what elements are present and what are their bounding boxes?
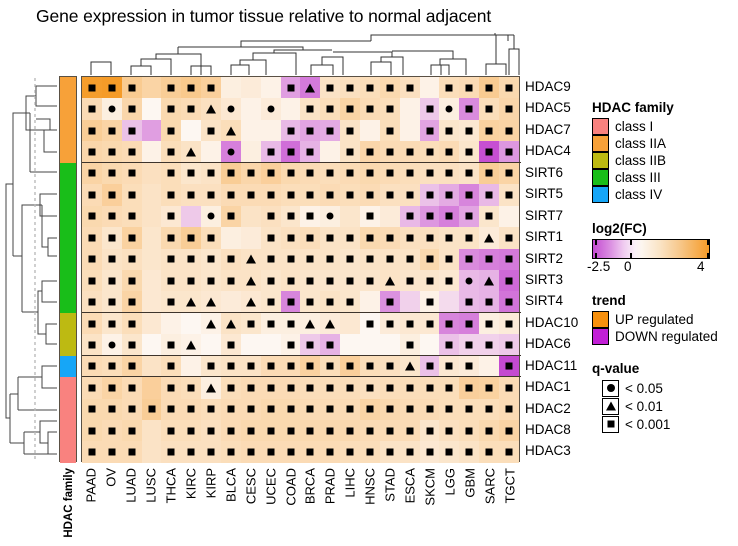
heatmap-cell[interactable] (380, 441, 400, 462)
heatmap-cell[interactable] (122, 377, 142, 398)
heatmap-cell[interactable] (161, 184, 181, 205)
heatmap-cell[interactable] (320, 98, 340, 119)
heatmap-cell[interactable] (142, 227, 162, 248)
heatmap-cell[interactable] (122, 313, 142, 334)
heatmap-cell[interactable] (221, 291, 241, 312)
heatmap-cell[interactable] (82, 356, 102, 377)
heatmap-cell[interactable] (281, 399, 301, 420)
heatmap-cell[interactable] (102, 141, 122, 162)
heatmap-cell[interactable] (320, 291, 340, 312)
heatmap-cell[interactable] (340, 249, 360, 270)
heatmap-cell[interactable] (221, 270, 241, 291)
heatmap-cell[interactable] (499, 313, 519, 334)
heatmap-cell[interactable] (241, 184, 261, 205)
heatmap-cell[interactable] (102, 270, 122, 291)
heatmap-cell[interactable] (142, 77, 162, 98)
heatmap-cell[interactable] (201, 334, 221, 355)
heatmap-cell[interactable] (439, 441, 459, 462)
heatmap-cell[interactable] (439, 98, 459, 119)
heatmap-cell[interactable] (142, 249, 162, 270)
heatmap-cell[interactable] (400, 227, 420, 248)
heatmap-cell[interactable] (142, 141, 162, 162)
heatmap-cell[interactable] (300, 441, 320, 462)
heatmap-cell[interactable] (181, 399, 201, 420)
heatmap-cell[interactable] (459, 334, 479, 355)
heatmap-cell[interactable] (300, 334, 320, 355)
heatmap-cell[interactable] (499, 399, 519, 420)
heatmap-cell[interactable] (320, 313, 340, 334)
heatmap-cell[interactable] (82, 98, 102, 119)
heatmap-cell[interactable] (360, 184, 380, 205)
heatmap-cell[interactable] (221, 98, 241, 119)
heatmap-cell[interactable] (400, 420, 420, 441)
heatmap-cell[interactable] (102, 334, 122, 355)
heatmap-cell[interactable] (340, 420, 360, 441)
heatmap-cell[interactable] (360, 334, 380, 355)
heatmap-cell[interactable] (281, 441, 301, 462)
heatmap-cell[interactable] (221, 356, 241, 377)
heatmap-cell[interactable] (439, 206, 459, 227)
heatmap-cell[interactable] (181, 227, 201, 248)
heatmap-cell[interactable] (400, 377, 420, 398)
heatmap-cell[interactable] (340, 270, 360, 291)
heatmap-cell[interactable] (122, 120, 142, 141)
heatmap-cell[interactable] (82, 291, 102, 312)
heatmap-cell[interactable] (459, 377, 479, 398)
heatmap-cell[interactable] (201, 227, 221, 248)
heatmap-cell[interactable] (281, 206, 301, 227)
heatmap-cell[interactable] (161, 249, 181, 270)
heatmap-cell[interactable] (281, 77, 301, 98)
heatmap-cell[interactable] (261, 77, 281, 98)
heatmap-cell[interactable] (300, 227, 320, 248)
heatmap-cell[interactable] (340, 291, 360, 312)
heatmap-cell[interactable] (241, 163, 261, 184)
heatmap-cell[interactable] (320, 77, 340, 98)
heatmap-cell[interactable] (459, 399, 479, 420)
heatmap-cell[interactable] (400, 163, 420, 184)
heatmap-cell[interactable] (420, 356, 440, 377)
heatmap-cell[interactable] (360, 227, 380, 248)
heatmap-cell[interactable] (281, 184, 301, 205)
heatmap-cell[interactable] (400, 441, 420, 462)
heatmap-cell[interactable] (181, 184, 201, 205)
heatmap-cell[interactable] (340, 227, 360, 248)
heatmap-cell[interactable] (499, 356, 519, 377)
heatmap-cell[interactable] (459, 163, 479, 184)
heatmap-cell[interactable] (261, 334, 281, 355)
heatmap-cell[interactable] (320, 163, 340, 184)
heatmap-cell[interactable] (122, 98, 142, 119)
heatmap-cell[interactable] (340, 184, 360, 205)
heatmap-cell[interactable] (281, 227, 301, 248)
heatmap-cell[interactable] (261, 98, 281, 119)
heatmap-cell[interactable] (142, 120, 162, 141)
heatmap-cell[interactable] (142, 356, 162, 377)
heatmap-cell[interactable] (241, 377, 261, 398)
heatmap-cell[interactable] (439, 377, 459, 398)
heatmap-cell[interactable] (420, 206, 440, 227)
heatmap-cell[interactable] (102, 206, 122, 227)
heatmap-cell[interactable] (102, 120, 122, 141)
heatmap-cell[interactable] (241, 420, 261, 441)
heatmap-cell[interactable] (459, 313, 479, 334)
heatmap-cell[interactable] (340, 441, 360, 462)
heatmap-cell[interactable] (499, 227, 519, 248)
heatmap-cell[interactable] (221, 120, 241, 141)
heatmap-cell[interactable] (479, 441, 499, 462)
heatmap-cell[interactable] (181, 77, 201, 98)
heatmap-cell[interactable] (181, 141, 201, 162)
heatmap-cell[interactable] (261, 356, 281, 377)
heatmap-cell[interactable] (400, 334, 420, 355)
heatmap-cell[interactable] (241, 441, 261, 462)
heatmap-cell[interactable] (82, 377, 102, 398)
heatmap-cell[interactable] (360, 420, 380, 441)
heatmap-cell[interactable] (281, 334, 301, 355)
heatmap-cell[interactable] (420, 163, 440, 184)
heatmap-cell[interactable] (241, 141, 261, 162)
heatmap-cell[interactable] (161, 206, 181, 227)
heatmap-cell[interactable] (201, 163, 221, 184)
heatmap-cell[interactable] (221, 77, 241, 98)
heatmap-cell[interactable] (340, 399, 360, 420)
heatmap-cell[interactable] (380, 77, 400, 98)
heatmap-cell[interactable] (221, 441, 241, 462)
heatmap-cell[interactable] (320, 141, 340, 162)
heatmap-cell[interactable] (181, 356, 201, 377)
heatmap-cell[interactable] (122, 227, 142, 248)
heatmap-cell[interactable] (161, 227, 181, 248)
heatmap-cell[interactable] (380, 399, 400, 420)
heatmap-cell[interactable] (380, 291, 400, 312)
heatmap-cell[interactable] (499, 141, 519, 162)
heatmap-cell[interactable] (221, 163, 241, 184)
heatmap-cell[interactable] (380, 249, 400, 270)
heatmap-cell[interactable] (261, 227, 281, 248)
heatmap-cell[interactable] (380, 334, 400, 355)
heatmap-cell[interactable] (261, 120, 281, 141)
heatmap-cell[interactable] (439, 120, 459, 141)
heatmap-cell[interactable] (400, 206, 420, 227)
heatmap-cell[interactable] (221, 141, 241, 162)
heatmap-cell[interactable] (241, 98, 261, 119)
heatmap-cell[interactable] (221, 206, 241, 227)
heatmap-cell[interactable] (340, 356, 360, 377)
heatmap-cell[interactable] (380, 377, 400, 398)
heatmap-cell[interactable] (479, 377, 499, 398)
heatmap-cell[interactable] (261, 313, 281, 334)
heatmap-cell[interactable] (281, 120, 301, 141)
heatmap-cell[interactable] (400, 249, 420, 270)
heatmap-cell[interactable] (459, 356, 479, 377)
heatmap-cell[interactable] (300, 120, 320, 141)
heatmap-cell[interactable] (360, 206, 380, 227)
heatmap-cell[interactable] (420, 120, 440, 141)
heatmap-cell[interactable] (161, 163, 181, 184)
heatmap-cell[interactable] (241, 227, 261, 248)
heatmap-cell[interactable] (360, 291, 380, 312)
heatmap-cell[interactable] (499, 334, 519, 355)
heatmap-cell[interactable] (360, 356, 380, 377)
heatmap-cell[interactable] (241, 270, 261, 291)
heatmap-cell[interactable] (340, 377, 360, 398)
heatmap-cell[interactable] (300, 291, 320, 312)
heatmap-cell[interactable] (161, 98, 181, 119)
heatmap-cell[interactable] (420, 313, 440, 334)
heatmap-cell[interactable] (261, 399, 281, 420)
heatmap-cell[interactable] (360, 120, 380, 141)
heatmap-cell[interactable] (300, 313, 320, 334)
heatmap-cell[interactable] (122, 141, 142, 162)
heatmap-cell[interactable] (122, 356, 142, 377)
heatmap-cell[interactable] (400, 120, 420, 141)
heatmap-cell[interactable] (102, 184, 122, 205)
heatmap-cell[interactable] (400, 291, 420, 312)
heatmap-cell[interactable] (420, 377, 440, 398)
heatmap-cell[interactable] (181, 120, 201, 141)
heatmap-cell[interactable] (380, 313, 400, 334)
heatmap-cell[interactable] (340, 141, 360, 162)
heatmap-cell[interactable] (82, 441, 102, 462)
heatmap-cell[interactable] (499, 206, 519, 227)
heatmap-cell[interactable] (459, 98, 479, 119)
heatmap-cell[interactable] (479, 98, 499, 119)
heatmap-cell[interactable] (340, 334, 360, 355)
heatmap-cell[interactable] (420, 249, 440, 270)
heatmap-cell[interactable] (241, 77, 261, 98)
heatmap-cell[interactable] (261, 377, 281, 398)
heatmap-cell[interactable] (479, 291, 499, 312)
heatmap-cell[interactable] (400, 399, 420, 420)
heatmap-cell[interactable] (261, 163, 281, 184)
heatmap-cell[interactable] (340, 77, 360, 98)
heatmap-cell[interactable] (459, 249, 479, 270)
heatmap-cell[interactable] (122, 77, 142, 98)
heatmap-cell[interactable] (261, 206, 281, 227)
heatmap-cell[interactable] (82, 163, 102, 184)
heatmap-cell[interactable] (201, 98, 221, 119)
heatmap-cell[interactable] (241, 249, 261, 270)
heatmap-cell[interactable] (261, 270, 281, 291)
heatmap-cell[interactable] (400, 98, 420, 119)
heatmap-cell[interactable] (459, 441, 479, 462)
heatmap-cell[interactable] (320, 227, 340, 248)
heatmap-cell[interactable] (122, 441, 142, 462)
heatmap-cell[interactable] (360, 249, 380, 270)
heatmap-cell[interactable] (479, 399, 499, 420)
heatmap-cell[interactable] (281, 313, 301, 334)
heatmap-cell[interactable] (459, 77, 479, 98)
heatmap-cell[interactable] (142, 291, 162, 312)
heatmap-cell[interactable] (161, 291, 181, 312)
heatmap-cell[interactable] (122, 399, 142, 420)
heatmap-cell[interactable] (261, 420, 281, 441)
heatmap-cell[interactable] (82, 77, 102, 98)
heatmap-cell[interactable] (221, 313, 241, 334)
heatmap-cell[interactable] (320, 420, 340, 441)
heatmap-cell[interactable] (142, 184, 162, 205)
heatmap-cell[interactable] (439, 399, 459, 420)
heatmap-cell[interactable] (420, 270, 440, 291)
heatmap-cell[interactable] (102, 77, 122, 98)
heatmap-cell[interactable] (459, 420, 479, 441)
heatmap-cell[interactable] (122, 334, 142, 355)
heatmap-cell[interactable] (261, 184, 281, 205)
heatmap-cell[interactable] (261, 141, 281, 162)
heatmap-cell[interactable] (102, 227, 122, 248)
heatmap-cell[interactable] (181, 291, 201, 312)
heatmap-cell[interactable] (241, 291, 261, 312)
heatmap-cell[interactable] (122, 420, 142, 441)
heatmap-cell[interactable] (479, 356, 499, 377)
heatmap-cell[interactable] (281, 420, 301, 441)
heatmap-cell[interactable] (221, 334, 241, 355)
heatmap-cell[interactable] (459, 227, 479, 248)
heatmap-cell[interactable] (320, 399, 340, 420)
heatmap-cell[interactable] (499, 98, 519, 119)
heatmap-cell[interactable] (439, 141, 459, 162)
heatmap-cell[interactable] (161, 399, 181, 420)
heatmap-cell[interactable] (459, 141, 479, 162)
heatmap-cell[interactable] (420, 334, 440, 355)
heatmap-cell[interactable] (102, 399, 122, 420)
heatmap-cell[interactable] (142, 377, 162, 398)
heatmap-cell[interactable] (142, 441, 162, 462)
heatmap-cell[interactable] (439, 313, 459, 334)
heatmap-cell[interactable] (181, 206, 201, 227)
heatmap-cell[interactable] (320, 356, 340, 377)
heatmap-cell[interactable] (201, 420, 221, 441)
heatmap-cell[interactable] (380, 420, 400, 441)
heatmap-cell[interactable] (122, 184, 142, 205)
heatmap-cell[interactable] (400, 141, 420, 162)
heatmap-cell[interactable] (261, 441, 281, 462)
heatmap-cell[interactable] (320, 334, 340, 355)
heatmap-cell[interactable] (241, 206, 261, 227)
heatmap-grid[interactable] (81, 76, 520, 462)
heatmap-cell[interactable] (300, 377, 320, 398)
heatmap-cell[interactable] (201, 270, 221, 291)
heatmap-cell[interactable] (82, 120, 102, 141)
heatmap-cell[interactable] (499, 77, 519, 98)
heatmap-cell[interactable] (261, 291, 281, 312)
heatmap-cell[interactable] (499, 120, 519, 141)
heatmap-cell[interactable] (360, 163, 380, 184)
heatmap-cell[interactable] (459, 291, 479, 312)
heatmap-cell[interactable] (400, 313, 420, 334)
heatmap-cell[interactable] (360, 399, 380, 420)
heatmap-cell[interactable] (221, 377, 241, 398)
heatmap-cell[interactable] (122, 270, 142, 291)
heatmap-cell[interactable] (320, 441, 340, 462)
heatmap-cell[interactable] (82, 334, 102, 355)
heatmap-cell[interactable] (181, 334, 201, 355)
heatmap-cell[interactable] (122, 291, 142, 312)
heatmap-cell[interactable] (201, 399, 221, 420)
heatmap-cell[interactable] (181, 377, 201, 398)
heatmap-cell[interactable] (400, 184, 420, 205)
heatmap-cell[interactable] (340, 98, 360, 119)
heatmap-cell[interactable] (420, 77, 440, 98)
heatmap-cell[interactable] (420, 441, 440, 462)
heatmap-cell[interactable] (281, 291, 301, 312)
heatmap-cell[interactable] (360, 270, 380, 291)
heatmap-cell[interactable] (360, 98, 380, 119)
heatmap-cell[interactable] (320, 206, 340, 227)
heatmap-cell[interactable] (142, 270, 162, 291)
heatmap-cell[interactable] (281, 270, 301, 291)
heatmap-cell[interactable] (340, 120, 360, 141)
heatmap-cell[interactable] (479, 313, 499, 334)
heatmap-cell[interactable] (181, 270, 201, 291)
heatmap-cell[interactable] (142, 163, 162, 184)
heatmap-cell[interactable] (499, 163, 519, 184)
heatmap-cell[interactable] (459, 184, 479, 205)
heatmap-cell[interactable] (420, 184, 440, 205)
heatmap-cell[interactable] (161, 270, 181, 291)
heatmap-cell[interactable] (161, 141, 181, 162)
heatmap-cell[interactable] (161, 77, 181, 98)
heatmap-cell[interactable] (221, 249, 241, 270)
heatmap-cell[interactable] (221, 420, 241, 441)
heatmap-cell[interactable] (439, 163, 459, 184)
heatmap-cell[interactable] (201, 249, 221, 270)
heatmap-cell[interactable] (281, 377, 301, 398)
heatmap-cell[interactable] (320, 120, 340, 141)
heatmap-cell[interactable] (300, 206, 320, 227)
heatmap-cell[interactable] (300, 399, 320, 420)
heatmap-cell[interactable] (181, 249, 201, 270)
heatmap-cell[interactable] (102, 356, 122, 377)
heatmap-cell[interactable] (201, 356, 221, 377)
heatmap-cell[interactable] (320, 270, 340, 291)
heatmap-cell[interactable] (82, 141, 102, 162)
heatmap-cell[interactable] (439, 77, 459, 98)
heatmap-cell[interactable] (82, 399, 102, 420)
heatmap-cell[interactable] (499, 291, 519, 312)
heatmap-cell[interactable] (221, 399, 241, 420)
heatmap-cell[interactable] (241, 334, 261, 355)
heatmap-cell[interactable] (459, 120, 479, 141)
heatmap-cell[interactable] (459, 270, 479, 291)
heatmap-cell[interactable] (400, 356, 420, 377)
heatmap-cell[interactable] (300, 270, 320, 291)
heatmap-cell[interactable] (400, 270, 420, 291)
heatmap-cell[interactable] (201, 377, 221, 398)
heatmap-cell[interactable] (300, 249, 320, 270)
heatmap-cell[interactable] (181, 163, 201, 184)
heatmap-cell[interactable] (82, 184, 102, 205)
heatmap-cell[interactable] (439, 184, 459, 205)
heatmap-cell[interactable] (499, 377, 519, 398)
heatmap-cell[interactable] (479, 249, 499, 270)
heatmap-cell[interactable] (420, 399, 440, 420)
heatmap-cell[interactable] (300, 141, 320, 162)
heatmap-cell[interactable] (201, 291, 221, 312)
heatmap-cell[interactable] (300, 77, 320, 98)
heatmap-cell[interactable] (82, 313, 102, 334)
heatmap-cell[interactable] (102, 291, 122, 312)
heatmap-cell[interactable] (201, 141, 221, 162)
heatmap-cell[interactable] (122, 206, 142, 227)
heatmap-cell[interactable] (142, 98, 162, 119)
heatmap-cell[interactable] (439, 356, 459, 377)
heatmap-cell[interactable] (300, 184, 320, 205)
heatmap-cell[interactable] (161, 313, 181, 334)
heatmap-cell[interactable] (281, 249, 301, 270)
heatmap-cell[interactable] (201, 120, 221, 141)
